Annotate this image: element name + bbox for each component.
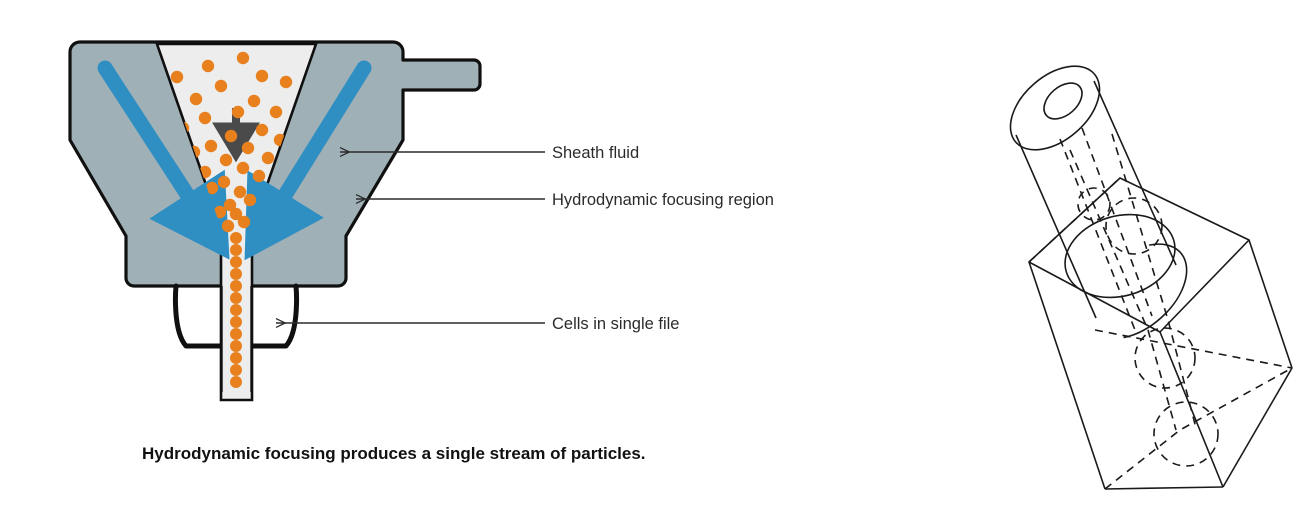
particle-in-stream (230, 280, 242, 292)
core-particle-3 (1135, 328, 1195, 388)
flow-cell-cross-section (70, 42, 480, 400)
bore-mouth-circle (1055, 202, 1185, 310)
particle (248, 95, 260, 107)
cylinder-side-left (1016, 135, 1096, 318)
particle (244, 194, 256, 206)
particle (225, 130, 237, 142)
particle (270, 106, 282, 118)
particle (190, 93, 202, 105)
particle-in-stream (230, 340, 242, 352)
particle (218, 176, 230, 188)
cone-hidden-right (1112, 134, 1196, 428)
particle (280, 76, 292, 88)
prism-bottom-front (1105, 487, 1223, 489)
particle-in-stream (230, 256, 242, 268)
particle (253, 170, 265, 182)
hydrodynamic-focusing-figure: Sheath fluidHydrodynamic focusing region… (0, 0, 1300, 510)
label-sheath-fluid: Sheath fluid (552, 144, 639, 162)
label-cells-single-file: Cells in single file (552, 315, 679, 333)
particle-in-stream (230, 232, 242, 244)
particle (234, 186, 246, 198)
label-focusing-region: Hydrodynamic focusing region (552, 191, 774, 209)
particle (205, 140, 217, 152)
cylinder-side-right (1094, 81, 1176, 265)
particle-in-stream (230, 364, 242, 376)
particle (237, 52, 249, 64)
particle-in-stream (230, 304, 242, 316)
particle (237, 162, 249, 174)
particle (262, 152, 274, 164)
particle-in-stream (230, 376, 242, 388)
particle-in-stream (230, 316, 242, 328)
particle (215, 80, 227, 92)
particle (220, 154, 232, 166)
particle-in-stream (230, 328, 242, 340)
particle-in-stream (230, 352, 242, 364)
prism-edge-back-right (1249, 240, 1292, 368)
prism-hidden-mid (1095, 330, 1292, 368)
particle (202, 60, 214, 72)
figure-caption: Hydrodynamic focusing produces a single … (142, 444, 646, 463)
particle (199, 112, 211, 124)
prism-bottom-right (1223, 368, 1292, 487)
particle (256, 70, 268, 82)
nozzle-inner-bore (1037, 76, 1089, 126)
cone-hidden-left (1070, 150, 1176, 430)
particle-in-stream (230, 244, 242, 256)
particle (222, 220, 234, 232)
flow-cell-3d (995, 50, 1292, 489)
particle-in-stream (230, 268, 242, 280)
particle-in-stream (230, 292, 242, 304)
particle (256, 124, 268, 136)
particle (232, 106, 244, 118)
nozzle-outer-rim (995, 50, 1115, 167)
prism-hidden-top-back (1029, 178, 1120, 262)
core-particle-4 (1154, 402, 1218, 466)
particle (238, 216, 250, 228)
figure-canvas: Sheath fluidHydrodynamic focusing region… (0, 0, 1300, 510)
particle (171, 71, 183, 83)
particle (242, 142, 254, 154)
